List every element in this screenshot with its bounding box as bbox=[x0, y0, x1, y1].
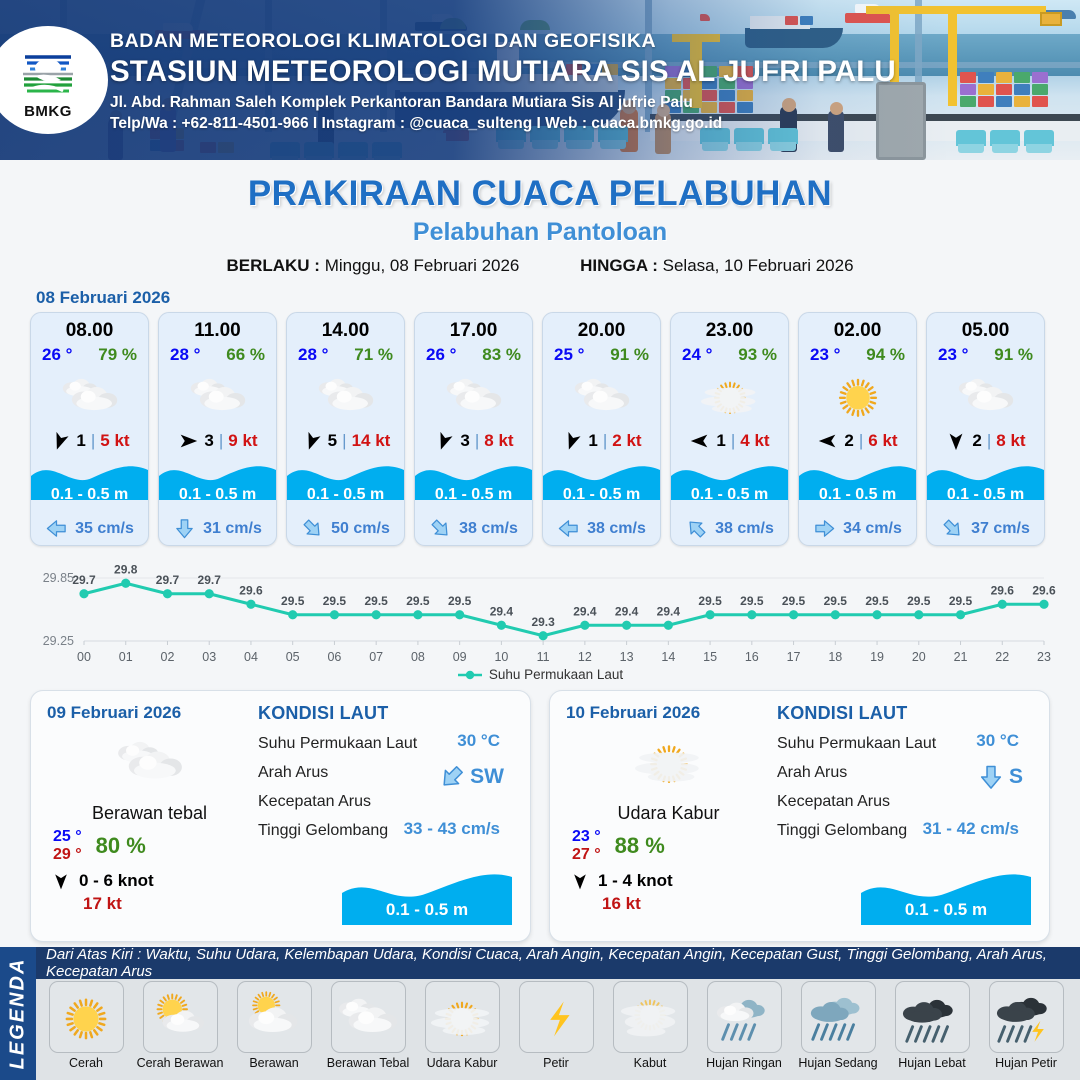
weather-infographic: BMKG BADAN METEOROLOGI KLIMATOLOGI DAN G… bbox=[0, 0, 1080, 1080]
card-current-speed: 38 cm/s bbox=[715, 520, 774, 538]
card-wind: 1 | 4 kt bbox=[671, 424, 788, 458]
card-current: 31 cm/s bbox=[159, 512, 276, 545]
legend-tab: LEGENDA bbox=[0, 947, 36, 1080]
chart-point-label: 29.6 bbox=[239, 583, 263, 597]
udara-kabur-icon bbox=[635, 728, 703, 796]
chart-point-label: 29.7 bbox=[72, 573, 96, 587]
card-wind: 3 | 9 kt bbox=[159, 424, 276, 458]
x-tick-label: 01 bbox=[119, 650, 133, 664]
x-tick-label: 18 bbox=[828, 650, 842, 664]
current-direction-arrow-icon bbox=[429, 517, 452, 540]
separator: | bbox=[987, 431, 991, 451]
card-wind: 5 | 14 kt bbox=[287, 424, 404, 458]
card-wave-height: 0.1 - 0.5 m bbox=[287, 486, 404, 504]
chart-point bbox=[246, 600, 255, 609]
daily-condition: Berawan tebal bbox=[47, 803, 252, 824]
current-direction-arrow-icon bbox=[45, 517, 68, 540]
card-humidity: 83 % bbox=[482, 345, 521, 365]
current-direction-arrow-icon bbox=[301, 517, 324, 540]
card-wind: 1 | 5 kt bbox=[31, 424, 148, 458]
daily-wind-range: 0 - 6 knot bbox=[79, 871, 154, 891]
x-tick-label: 19 bbox=[870, 650, 884, 664]
card-time: 02.00 bbox=[799, 313, 916, 342]
daily-wave: 0.1 - 0.5 m bbox=[342, 867, 512, 929]
legend-item-label: Hujan Petir bbox=[995, 1056, 1057, 1070]
bmkg-emblem-icon bbox=[15, 40, 81, 102]
station-contact: Telp/Wa : +62-811-4501-966 I Instagram :… bbox=[110, 115, 896, 133]
chart-point bbox=[789, 610, 798, 619]
legend-item: Hujan Ringan bbox=[698, 981, 790, 1070]
x-tick-label: 21 bbox=[954, 650, 968, 664]
card-current-speed: 50 cm/s bbox=[331, 520, 390, 538]
daily-temp-min: 25 ° bbox=[53, 828, 82, 846]
card-humidity: 66 % bbox=[226, 345, 265, 365]
wind-direction-arrow-icon bbox=[301, 430, 323, 452]
card-wind-speed: 4 kt bbox=[740, 431, 769, 451]
card-wave-height: 0.1 - 0.5 m bbox=[799, 486, 916, 504]
card-temperature: 28 ° bbox=[170, 345, 200, 365]
chart-point bbox=[580, 621, 589, 630]
card-wind-scale: 3 bbox=[204, 431, 213, 451]
daily-temp-max: 27 ° bbox=[572, 846, 601, 864]
card-weather-icon bbox=[543, 368, 660, 424]
cerah-icon bbox=[55, 986, 117, 1048]
hourly-card: 08.00 26 ° 79 % 1 | 5 kt bbox=[30, 312, 149, 546]
card-humidity: 79 % bbox=[98, 345, 137, 365]
legend-item-label: Berawan bbox=[249, 1056, 298, 1070]
legend-item-label: Berawan Tebal bbox=[327, 1056, 409, 1070]
current-direction: SW bbox=[438, 763, 504, 791]
chart-point bbox=[413, 610, 422, 619]
card-wind-speed: 5 kt bbox=[100, 431, 129, 451]
card-weather-icon bbox=[671, 368, 788, 424]
card-current-speed: 38 cm/s bbox=[587, 520, 646, 538]
legend-item: Hujan Lebat bbox=[886, 981, 978, 1070]
chart-point bbox=[163, 589, 172, 598]
legend-icon-box bbox=[989, 981, 1064, 1053]
chart-point-label: 29.5 bbox=[281, 594, 305, 608]
berawan-tebal-icon bbox=[116, 728, 184, 796]
x-tick-label: 16 bbox=[745, 650, 759, 664]
legend-note: Dari Atas Kiri : Waktu, Suhu Udara, Kele… bbox=[36, 946, 1080, 980]
card-current: 38 cm/s bbox=[415, 512, 532, 545]
card-current: 38 cm/s bbox=[671, 512, 788, 545]
legend-item: Cerah Berawan bbox=[134, 981, 226, 1070]
card-wind-scale: 1 bbox=[716, 431, 725, 451]
daily-wind: 0 - 6 knot bbox=[47, 871, 252, 891]
berawan-tebal-icon bbox=[445, 367, 503, 425]
berawan-tebal-icon bbox=[337, 986, 399, 1048]
hourly-card: 20.00 25 ° 91 % 1 | 2 kt bbox=[542, 312, 661, 546]
title-block: PRAKIRAAN CUACA PELABUHAN Pelabuhan Pant… bbox=[0, 174, 1080, 276]
legend-icon-box bbox=[613, 981, 688, 1053]
card-weather-icon bbox=[927, 368, 1044, 424]
daily-condition: Udara Kabur bbox=[566, 803, 771, 824]
chart-point bbox=[288, 610, 297, 619]
current-speed: 33 - 43 cm/s bbox=[404, 819, 500, 839]
card-temperature: 26 ° bbox=[426, 345, 456, 365]
card-time: 11.00 bbox=[159, 313, 276, 342]
berawan-tebal-icon bbox=[573, 367, 631, 425]
berawan-tebal-icon bbox=[189, 367, 247, 425]
card-wind-scale: 2 bbox=[844, 431, 853, 451]
chart-point-label: 29.5 bbox=[782, 594, 806, 608]
chart-point bbox=[497, 621, 506, 630]
chart-point bbox=[1039, 600, 1048, 609]
chart-point-label: 29.4 bbox=[615, 604, 639, 618]
card-current: 35 cm/s bbox=[31, 512, 148, 545]
x-tick-label: 03 bbox=[202, 650, 216, 664]
berawan-icon bbox=[243, 986, 305, 1048]
card-wind-scale: 3 bbox=[460, 431, 469, 451]
separator: | bbox=[91, 431, 95, 451]
card-wave-height: 0.1 - 0.5 m bbox=[415, 486, 532, 504]
daily-forecast-row: 09 Februari 2026 Berawan tebal 25 ° 29 °… bbox=[0, 682, 1080, 942]
x-tick-label: 22 bbox=[995, 650, 1009, 664]
hourly-card: 14.00 28 ° 71 % 5 | 14 kt bbox=[286, 312, 405, 546]
wind-direction-arrow-icon bbox=[49, 430, 71, 452]
card-wind-speed: 2 kt bbox=[612, 431, 641, 451]
legend-item: Kabut bbox=[604, 981, 696, 1070]
card-wave-height: 0.1 - 0.5 m bbox=[671, 486, 788, 504]
card-temperature: 28 ° bbox=[298, 345, 328, 365]
legend-note-bar: Dari Atas Kiri : Waktu, Suhu Udara, Kele… bbox=[36, 947, 1080, 979]
wind-direction-arrow-icon bbox=[689, 430, 711, 452]
card-temperature: 24 ° bbox=[682, 345, 712, 365]
x-tick-label: 12 bbox=[578, 650, 592, 664]
legend-item: Cerah bbox=[40, 981, 132, 1070]
separator: | bbox=[475, 431, 479, 451]
card-humidity: 91 % bbox=[994, 345, 1033, 365]
current-direction-arrow-icon bbox=[557, 517, 580, 540]
card-wave-height: 0.1 - 0.5 m bbox=[543, 486, 660, 504]
card-time: 08.00 bbox=[31, 313, 148, 342]
current-direction-arrow-icon bbox=[438, 763, 466, 791]
current-direction-arrow-icon bbox=[977, 763, 1005, 791]
chart-point bbox=[998, 600, 1007, 609]
legend-item: Hujan Petir bbox=[980, 981, 1072, 1070]
sea-surface-temp: 30 °C bbox=[457, 731, 500, 751]
chart-point-label: 29.5 bbox=[364, 594, 388, 608]
chart-point-label: 29.6 bbox=[991, 583, 1015, 597]
station-address: Jl. Abd. Rahman Saleh Komplek Perkantora… bbox=[110, 94, 896, 112]
separator: | bbox=[603, 431, 607, 451]
card-humidity: 71 % bbox=[354, 345, 393, 365]
x-tick-label: 00 bbox=[77, 650, 91, 664]
daily-humidity: 88 % bbox=[615, 833, 665, 859]
hujan-lebat-icon bbox=[901, 986, 963, 1048]
sea-row-label: Kecepatan Arus bbox=[258, 793, 514, 811]
chart-point bbox=[372, 610, 381, 619]
card-wind-speed: 14 kt bbox=[352, 431, 391, 451]
hourly-card: 11.00 28 ° 66 % 3 | 9 kt bbox=[158, 312, 277, 546]
chart-point bbox=[914, 610, 923, 619]
chart-point-label: 29.3 bbox=[531, 615, 555, 629]
station-name: STASIUN METEOROLOGI MUTIARA SIS AL JUFRI… bbox=[110, 55, 896, 89]
card-temperature: 26 ° bbox=[42, 345, 72, 365]
chart-point bbox=[872, 610, 881, 619]
card-wave-height: 0.1 - 0.5 m bbox=[927, 486, 1044, 504]
daily-wind: 1 - 4 knot bbox=[566, 871, 771, 891]
chart-point-label: 29.6 bbox=[1032, 583, 1056, 597]
hourly-card: 17.00 26 ° 83 % 3 | 8 kt bbox=[414, 312, 533, 546]
daily-wave-height: 0.1 - 0.5 m bbox=[861, 900, 1031, 920]
daily-humidity: 80 % bbox=[96, 833, 146, 859]
chart-point bbox=[455, 610, 464, 619]
card-current-speed: 37 cm/s bbox=[971, 520, 1030, 538]
x-tick-label: 06 bbox=[327, 650, 341, 664]
chart-point bbox=[330, 610, 339, 619]
x-tick-label: 13 bbox=[620, 650, 634, 664]
card-weather-icon bbox=[159, 368, 276, 424]
legend-item-label: Cerah Berawan bbox=[137, 1056, 224, 1070]
y-tick-max: 29.85 bbox=[43, 571, 74, 585]
card-current-speed: 35 cm/s bbox=[75, 520, 134, 538]
valid-until-label: HINGGA : bbox=[580, 256, 658, 275]
x-tick-label: 15 bbox=[703, 650, 717, 664]
card-wind-scale: 5 bbox=[328, 431, 337, 451]
sea-conditions-title: KONDISI LAUT bbox=[777, 703, 1033, 724]
sst-chart: 29.8529.2529.70029.80129.70229.70329.604… bbox=[20, 556, 1060, 671]
card-humidity: 91 % bbox=[610, 345, 649, 365]
hujan-ringan-icon bbox=[713, 986, 775, 1048]
card-current-speed: 34 cm/s bbox=[843, 520, 902, 538]
x-tick-label: 10 bbox=[494, 650, 508, 664]
x-tick-label: 07 bbox=[369, 650, 383, 664]
page-title: PRAKIRAAN CUACA PELABUHAN bbox=[0, 174, 1080, 214]
legend-item-label: Hujan Sedang bbox=[798, 1056, 877, 1070]
chart-point-label: 29.5 bbox=[448, 594, 472, 608]
card-wave: 0.1 - 0.5 m bbox=[159, 458, 276, 512]
daily-date: 10 Februari 2026 bbox=[566, 703, 771, 723]
chart-point bbox=[956, 610, 965, 619]
daily-panel: 09 Februari 2026 Berawan tebal 25 ° 29 °… bbox=[30, 690, 531, 942]
chart-point bbox=[79, 589, 88, 598]
sea-surface-temp: 30 °C bbox=[976, 731, 1019, 751]
berawan-tebal-icon bbox=[317, 367, 375, 425]
card-weather-icon bbox=[287, 368, 404, 424]
card-wind-scale: 1 bbox=[76, 431, 85, 451]
legend-icon-box bbox=[143, 981, 218, 1053]
legend-item-label: Udara Kabur bbox=[427, 1056, 498, 1070]
card-weather-icon bbox=[31, 368, 148, 424]
card-wave: 0.1 - 0.5 m bbox=[799, 458, 916, 512]
card-weather-icon bbox=[415, 368, 532, 424]
hourly-forecast-row: 08.00 26 ° 79 % 1 | 5 kt bbox=[0, 312, 1080, 546]
chart-point-label: 29.8 bbox=[114, 562, 138, 576]
legend-icon-box bbox=[895, 981, 970, 1053]
legend-section: LEGENDA Dari Atas Kiri : Waktu, Suhu Uda… bbox=[0, 947, 1080, 1080]
chart-point bbox=[205, 589, 214, 598]
legend-item: Udara Kabur bbox=[416, 981, 508, 1070]
x-tick-label: 17 bbox=[787, 650, 801, 664]
current-direction-label: SW bbox=[470, 765, 504, 789]
current-direction-arrow-icon bbox=[813, 517, 836, 540]
card-wave: 0.1 - 0.5 m bbox=[927, 458, 1044, 512]
card-wind-scale: 2 bbox=[972, 431, 981, 451]
udara-kabur-icon bbox=[431, 986, 493, 1048]
daily-wave-height: 0.1 - 0.5 m bbox=[342, 900, 512, 920]
sea-row-label: Kecepatan Arus bbox=[777, 793, 1033, 811]
chart-point-label: 29.5 bbox=[907, 594, 931, 608]
separator: | bbox=[342, 431, 346, 451]
daily-date: 09 Februari 2026 bbox=[47, 703, 252, 723]
legend-icon-box bbox=[237, 981, 312, 1053]
kabut-icon bbox=[619, 986, 681, 1048]
daily-gust: 16 kt bbox=[566, 894, 771, 914]
chart-point-label: 29.5 bbox=[406, 594, 430, 608]
chart-point bbox=[664, 621, 673, 630]
chart-line bbox=[84, 583, 1044, 636]
validity-range: BERLAKU : Minggu, 08 Februari 2026 HINGG… bbox=[0, 256, 1080, 276]
wind-direction-arrow-icon bbox=[433, 430, 455, 452]
hourly-card: 23.00 24 ° 93 % 1 | 4 kt bbox=[670, 312, 789, 546]
daily-left: 09 Februari 2026 Berawan tebal 25 ° 29 °… bbox=[47, 703, 252, 927]
card-current: 38 cm/s bbox=[543, 512, 660, 545]
sea-conditions-title: KONDISI LAUT bbox=[258, 703, 514, 724]
chart-point bbox=[121, 579, 130, 588]
chart-point-label: 29.7 bbox=[198, 573, 222, 587]
daily-temp-min: 23 ° bbox=[572, 828, 601, 846]
current-direction-arrow-icon bbox=[941, 517, 964, 540]
udara-kabur-icon bbox=[701, 367, 759, 425]
legend-item-label: Hujan Ringan bbox=[706, 1056, 782, 1070]
legend-icon-box bbox=[49, 981, 124, 1053]
x-tick-label: 08 bbox=[411, 650, 425, 664]
agency-name: BADAN METEOROLOGI KLIMATOLOGI DAN GEOFIS… bbox=[110, 30, 896, 53]
x-tick-label: 02 bbox=[161, 650, 175, 664]
daily-weather-icon bbox=[566, 729, 771, 795]
card-current: 37 cm/s bbox=[927, 512, 1044, 545]
bmkg-logo-text: BMKG bbox=[24, 103, 72, 120]
x-tick-label: 14 bbox=[661, 650, 675, 664]
chart-point-label: 29.4 bbox=[490, 604, 514, 618]
card-current-speed: 31 cm/s bbox=[203, 520, 262, 538]
valid-until-value: Selasa, 10 Februari 2026 bbox=[663, 256, 854, 275]
card-current: 50 cm/s bbox=[287, 512, 404, 545]
chart-point-label: 29.5 bbox=[949, 594, 973, 608]
wind-direction-arrow-icon bbox=[177, 430, 199, 452]
x-tick-label: 04 bbox=[244, 650, 258, 664]
card-wave-height: 0.1 - 0.5 m bbox=[159, 486, 276, 504]
header-text-block: BADAN METEOROLOGI KLIMATOLOGI DAN GEOFIS… bbox=[110, 30, 896, 133]
chart-point-label: 29.5 bbox=[740, 594, 764, 608]
card-time: 14.00 bbox=[287, 313, 404, 342]
chart-point-label: 29.5 bbox=[865, 594, 889, 608]
chart-point bbox=[622, 621, 631, 630]
card-temperature: 23 ° bbox=[938, 345, 968, 365]
chart-point bbox=[831, 610, 840, 619]
page-subtitle: Pelabuhan Pantoloan bbox=[0, 218, 1080, 247]
current-direction-arrow-icon bbox=[173, 517, 196, 540]
hujan-sedang-icon bbox=[807, 986, 869, 1048]
legend-item: Petir bbox=[510, 981, 602, 1070]
valid-from-label: BERLAKU : bbox=[226, 256, 320, 275]
x-tick-label: 09 bbox=[453, 650, 467, 664]
page-header: BMKG BADAN METEOROLOGI KLIMATOLOGI DAN G… bbox=[0, 0, 1080, 160]
card-temperature: 25 ° bbox=[554, 345, 584, 365]
x-tick-label: 23 bbox=[1037, 650, 1051, 664]
x-tick-label: 05 bbox=[286, 650, 300, 664]
cerah-icon bbox=[829, 367, 887, 425]
legend-icon-box bbox=[425, 981, 500, 1053]
card-wave: 0.1 - 0.5 m bbox=[31, 458, 148, 512]
legend-icon-box bbox=[707, 981, 782, 1053]
separator: | bbox=[859, 431, 863, 451]
card-time: 05.00 bbox=[927, 313, 1044, 342]
legend-marker-icon bbox=[457, 670, 483, 680]
daily-wind-range: 1 - 4 knot bbox=[598, 871, 673, 891]
y-tick-min: 29.25 bbox=[43, 634, 74, 648]
legend-item: Hujan Sedang bbox=[792, 981, 884, 1070]
hourly-date-label: 08 Februari 2026 bbox=[36, 288, 1080, 308]
card-time: 23.00 bbox=[671, 313, 788, 342]
legend-item-label: Cerah bbox=[69, 1056, 103, 1070]
chart-point bbox=[539, 631, 548, 640]
wind-direction-arrow-icon bbox=[817, 430, 839, 452]
current-direction-label: S bbox=[1009, 765, 1023, 789]
card-wind: 2 | 8 kt bbox=[927, 424, 1044, 458]
chart-point bbox=[705, 610, 714, 619]
card-current: 34 cm/s bbox=[799, 512, 916, 545]
legend-tab-label: LEGENDA bbox=[7, 958, 30, 1070]
card-time: 20.00 bbox=[543, 313, 660, 342]
legend-icon-box bbox=[519, 981, 594, 1053]
card-wind-speed: 9 kt bbox=[228, 431, 257, 451]
separator: | bbox=[219, 431, 223, 451]
card-wind-speed: 8 kt bbox=[996, 431, 1025, 451]
petir-icon bbox=[525, 986, 587, 1048]
card-wind-speed: 6 kt bbox=[868, 431, 897, 451]
wind-direction-arrow-icon bbox=[561, 430, 583, 452]
current-speed: 31 - 42 cm/s bbox=[923, 819, 1019, 839]
wind-direction-arrow-icon bbox=[51, 871, 71, 891]
card-wind: 3 | 8 kt bbox=[415, 424, 532, 458]
daily-panel: 10 Februari 2026 Udara Kabur 23 ° 27 ° 8… bbox=[549, 690, 1050, 942]
card-time: 17.00 bbox=[415, 313, 532, 342]
legend-icon-box bbox=[801, 981, 876, 1053]
daily-temp-max: 29 ° bbox=[53, 846, 82, 864]
card-weather-icon bbox=[799, 368, 916, 424]
cerah-berawan-icon bbox=[149, 986, 211, 1048]
berawan-tebal-icon bbox=[957, 367, 1015, 425]
chart-point bbox=[747, 610, 756, 619]
daily-wave: 0.1 - 0.5 m bbox=[861, 867, 1031, 929]
chart-point-label: 29.4 bbox=[657, 604, 681, 618]
hourly-card: 05.00 23 ° 91 % 2 | 8 kt bbox=[926, 312, 1045, 546]
hujan-petir-icon bbox=[995, 986, 1057, 1048]
card-wave: 0.1 - 0.5 m bbox=[671, 458, 788, 512]
wind-direction-arrow-icon bbox=[570, 871, 590, 891]
chart-point-label: 29.4 bbox=[573, 604, 597, 618]
daily-weather-icon bbox=[47, 729, 252, 795]
card-wind-scale: 1 bbox=[588, 431, 597, 451]
card-humidity: 94 % bbox=[866, 345, 905, 365]
legend-items: Cerah Cerah Berawan bbox=[40, 981, 1076, 1070]
wind-direction-arrow-icon bbox=[945, 430, 967, 452]
daily-sea-conditions: KONDISI LAUT Suhu Permukaan LautArah Aru… bbox=[252, 703, 514, 927]
card-temperature: 23 ° bbox=[810, 345, 840, 365]
current-direction: S bbox=[977, 763, 1023, 791]
valid-from-value: Minggu, 08 Februari 2026 bbox=[325, 256, 520, 275]
x-tick-label: 11 bbox=[537, 650, 550, 664]
daily-gust: 17 kt bbox=[47, 894, 252, 914]
chart-point-label: 29.5 bbox=[323, 594, 347, 608]
berawan-tebal-icon bbox=[61, 367, 119, 425]
separator: | bbox=[731, 431, 735, 451]
legend-item: Berawan Tebal bbox=[322, 981, 414, 1070]
legend-item-label: Hujan Lebat bbox=[898, 1056, 965, 1070]
